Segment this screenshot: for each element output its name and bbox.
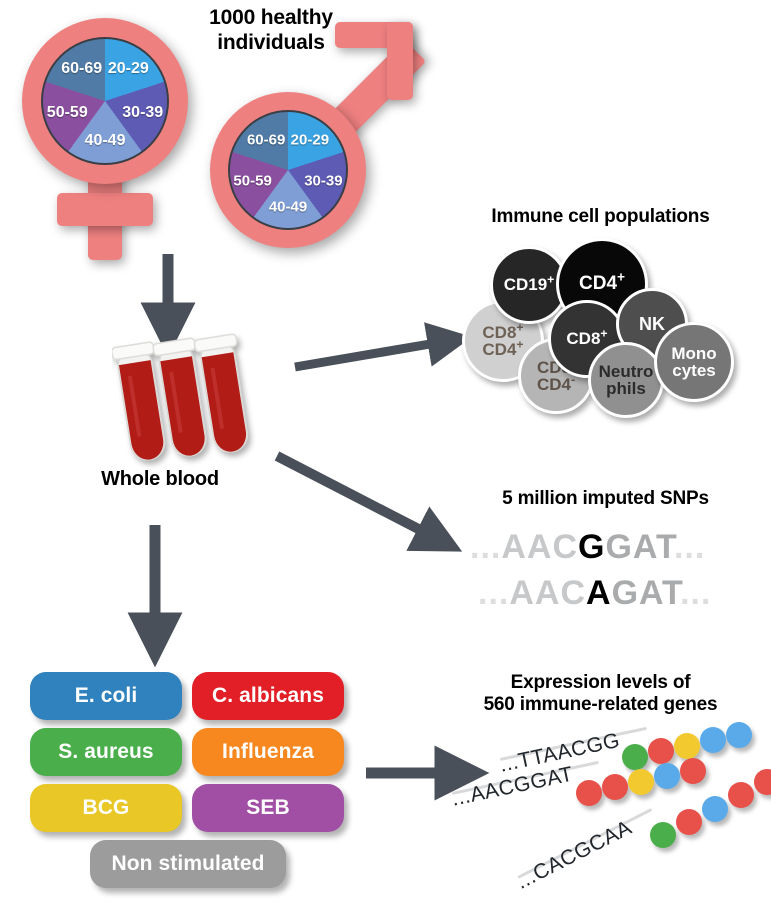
gene-expression-bead [648,738,674,764]
arrow-blood-to-immune [295,342,442,367]
stimulus-label: S. aureus [58,740,153,764]
stimuli-group: E. coliC. albicansS. aureusInfluenzaBCGS… [30,672,340,902]
gene-expression-bead [628,769,654,795]
stimulus-label: E. coli [75,684,138,708]
immune-cell-label: CD19+ [504,276,555,293]
gene-expression-bead [754,769,771,795]
blood-tubes-illustration [112,332,272,472]
snp-variant-base: A [586,574,612,612]
stimulus-label: SEB [246,796,289,820]
snp-suffix: GAT [612,574,680,612]
diagram-canvas: 1000 healthy individuals 20-2930-3940-49… [0,0,771,922]
stimulus-label: C. albicans [212,684,324,708]
snp-title: 5 million imputed SNPs [440,488,771,510]
immune-cell-label: Monocytes [671,345,716,380]
snp-prefix: AAC [501,528,578,566]
stimulus-c-albicans[interactable]: C. albicans [192,672,344,720]
stimulus-label: Non stimulated [111,852,264,876]
immune-cell-label: CD8+CD4+ [482,324,523,359]
snp-sequence-bottom: ...AACAGAT... [478,574,711,613]
expression-title: Expression levels of 560 immune-related … [430,672,771,717]
gene-expression-bead [602,774,628,800]
stimulus-bcg[interactable]: BCG [30,784,182,832]
snp-sequence-illustration: ...AACGGAT... ...AACAGAT... [470,528,760,618]
gene-expression-bead [650,822,676,848]
immune-populations-title: Immune cell populations [430,206,771,228]
stimulus-label: Influenza [222,740,314,764]
arrow-blood-to-snp [277,456,432,536]
snp-variant-base: G [578,528,605,566]
gene-expression-bead [702,796,728,822]
snp-trailing-dots: ... [674,528,705,566]
stimulus-influenza[interactable]: Influenza [192,728,344,776]
stimulus-e-coli[interactable]: E. coli [30,672,182,720]
immune-cell-label: NK [639,315,665,333]
whole-blood-label: Whole blood [55,468,265,492]
immune-cell-cluster: CD8+CD4+CD19+CD4+CD8-CD4-CD8+NKNeutrophi… [462,238,771,418]
snp-trailing-dots: ... [680,574,711,612]
gene-expression-bead [680,758,706,784]
immune-cell-label: CD8+ [566,330,607,347]
stimulus-seb[interactable]: SEB [192,784,344,832]
expression-title-line2: 560 immune-related genes [430,694,771,716]
gene-expression-bead [654,763,680,789]
stimulus-label: BCG [83,796,130,820]
immune-cell-label: CD4+ [579,274,625,293]
gene-expression-bead [576,780,602,806]
expression-title-line1: Expression levels of [430,672,771,694]
gene-expression-bead [674,733,700,759]
gene-expression-bead [726,722,752,748]
snp-suffix: GAT [605,528,673,566]
gene-expression-bead [622,744,648,770]
snp-leading-dots: ... [478,574,509,612]
gene-expression-bead [700,727,726,753]
gene-expression-bead [676,809,702,835]
immune-cell-neutrophils: Neutrophils [588,342,664,418]
snp-sequence-top: ...AACGGAT... [470,528,705,567]
gene-expression-illustration: ...TTAACGG...AACGGAT...CACGCAA [440,730,771,920]
immune-cell-label: Neutrophils [599,363,654,398]
snp-prefix: AAC [509,574,586,612]
stimulus-s-aureus[interactable]: S. aureus [30,728,182,776]
gene-strand-sequence: ...CACGCAA [513,816,636,895]
immune-cell-monocytes: Monocytes [654,322,734,402]
snp-leading-dots: ... [470,528,501,566]
stimulus-non-stimulated[interactable]: Non stimulated [90,840,286,888]
gene-expression-bead [728,782,754,808]
